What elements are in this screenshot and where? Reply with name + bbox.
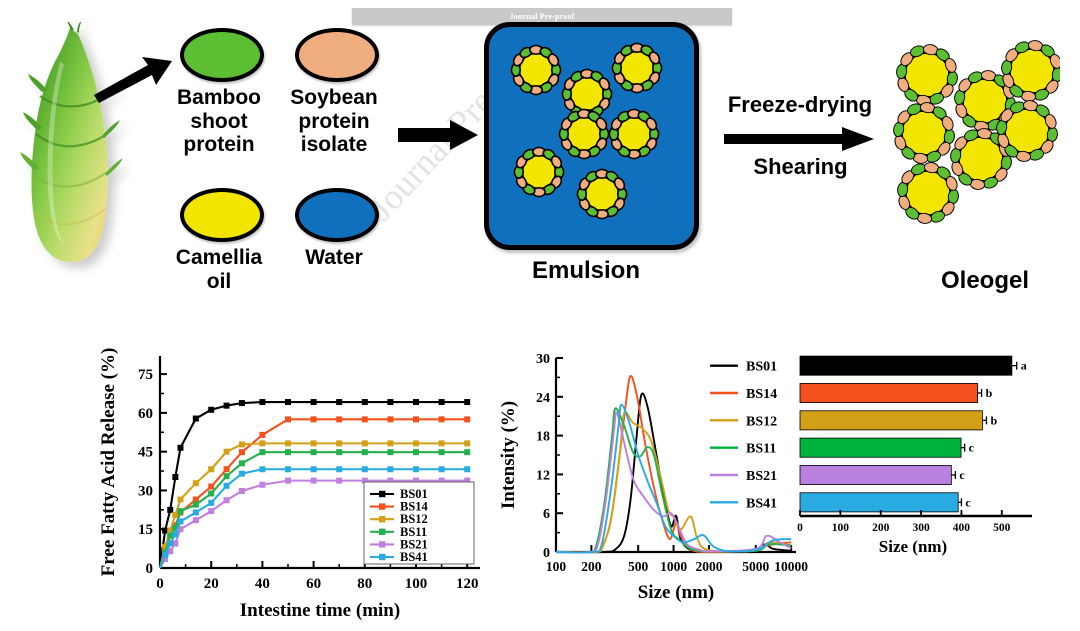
data-point: [259, 482, 265, 488]
data-point: [224, 497, 230, 503]
data-point: [387, 416, 393, 422]
data-point: [336, 478, 342, 484]
x-tick-label: 500: [628, 559, 649, 574]
bar-BS11: [800, 438, 961, 457]
y-tick-label: 12: [536, 468, 550, 483]
data-point: [336, 399, 342, 405]
data-point: [259, 399, 265, 405]
data-point: [224, 473, 230, 479]
x-tick-label: 1000: [660, 559, 687, 574]
water-ellipse: [295, 188, 379, 242]
data-point: [208, 407, 214, 413]
soybean-protein-isolate-label: Soybean protein isolate: [280, 86, 388, 157]
bar-BS12: [800, 411, 982, 430]
bar-BS14: [800, 383, 978, 402]
data-point: [239, 449, 245, 455]
x-tick-label: 20: [204, 576, 219, 592]
x-tick-label: 0: [156, 576, 164, 592]
emulsion-label: Emulsion: [506, 258, 666, 285]
data-point: [177, 518, 183, 524]
bamboo-shoot-protein-ellipse: [180, 28, 264, 82]
data-point: [439, 399, 445, 405]
x-tick-label: 10000: [774, 559, 808, 574]
label-line-2: protein: [280, 110, 388, 134]
legend-label-BS01: BS01: [746, 360, 777, 375]
data-point: [285, 440, 291, 446]
data-point: [177, 508, 183, 514]
legend-marker-BS12: [379, 516, 385, 522]
oleogel-label: Oleogel: [905, 268, 1065, 295]
camellia-oil-ellipse: [180, 188, 264, 242]
ffa-release-chart: 01530456075020406080100120Intestine time…: [92, 320, 492, 626]
data-point: [259, 432, 265, 438]
shearing-label: Shearing: [718, 155, 883, 180]
label-line-2: shoot: [165, 110, 273, 134]
data-point: [464, 466, 470, 472]
mean-size-plot-area: aBS01bBS14bBS12cBS11cBS21cBS410100200300…: [690, 340, 1080, 560]
significance-letter-BS41: c: [965, 495, 971, 509]
data-point: [193, 480, 199, 486]
legend-label-BS41: BS41: [746, 496, 777, 511]
data-point: [311, 478, 317, 484]
data-point: [193, 496, 199, 502]
data-point: [239, 488, 245, 494]
data-point: [224, 483, 230, 489]
label-line-1: Bamboo: [165, 86, 273, 110]
data-point: [208, 491, 214, 497]
data-point: [259, 449, 265, 455]
data-point: [224, 449, 230, 455]
legend-label-BS14: BS14: [746, 387, 777, 402]
data-point: [208, 484, 214, 490]
x-tick-label: 0: [797, 522, 803, 534]
data-point: [239, 400, 245, 406]
data-point: [336, 440, 342, 446]
data-point: [177, 445, 183, 451]
x-tick-label: 300: [912, 522, 930, 534]
data-point: [172, 474, 178, 480]
arrow-ingredients-to-emulsion: [398, 118, 478, 152]
x-tick-label: 2000: [695, 559, 722, 574]
data-point: [167, 540, 173, 546]
arrow-bamboo-to-proteins: [92, 55, 174, 103]
x-axis-title: Intestine time (min): [240, 600, 400, 621]
data-point: [193, 416, 199, 422]
y-tick-label: 6: [543, 507, 550, 522]
data-point: [162, 552, 168, 558]
data-point: [193, 517, 199, 523]
data-point: [311, 440, 317, 446]
data-point: [285, 399, 291, 405]
data-point: [172, 531, 178, 537]
data-point: [259, 466, 265, 472]
significance-letter-BS11: c: [969, 441, 975, 455]
label-line-1: Camellia: [165, 246, 273, 270]
bamboo-shoot-protein-label: Bamboo shoot protein: [165, 86, 273, 157]
data-point: [362, 416, 368, 422]
legend-marker-BS14: [379, 503, 385, 509]
data-point: [413, 449, 419, 455]
significance-letter-BS12: b: [990, 413, 997, 427]
data-point: [362, 466, 368, 472]
data-point: [208, 466, 214, 472]
freeze-drying-label: Freeze-drying: [710, 93, 890, 118]
mean-size-bar-chart: aBS01bBS14bBS12cBS11cBS21cBS410100200300…: [690, 340, 1080, 560]
oleogel-cluster: [880, 28, 1060, 248]
data-point: [439, 440, 445, 446]
x-tick-label: 60: [306, 576, 321, 592]
data-point: [285, 416, 291, 422]
data-point: [193, 509, 199, 515]
legend-label-BS21: BS21: [746, 469, 777, 484]
data-point: [208, 500, 214, 506]
data-point: [177, 496, 183, 502]
soybean-protein-isolate-ellipse: [295, 28, 379, 82]
data-point: [311, 416, 317, 422]
data-point: [285, 478, 291, 484]
data-point: [413, 399, 419, 405]
data-point: [285, 466, 291, 472]
y-tick-label: 75: [138, 367, 153, 383]
y-tick-label: 30: [138, 483, 153, 499]
x-axis-title: Size (nm): [638, 582, 715, 603]
data-point: [413, 416, 419, 422]
data-point: [336, 466, 342, 472]
data-point: [464, 440, 470, 446]
data-point: [464, 416, 470, 422]
legend-marker-BS11: [379, 529, 385, 535]
data-point: [439, 416, 445, 422]
bar-BS21: [800, 465, 951, 484]
data-point: [362, 449, 368, 455]
data-point: [311, 466, 317, 472]
data-point: [362, 440, 368, 446]
label-line-3: isolate: [280, 133, 388, 157]
data-point: [387, 449, 393, 455]
x-tick-label: 100: [546, 559, 567, 574]
data-point: [387, 440, 393, 446]
data-point: [239, 441, 245, 447]
legend-label-BS11: BS11: [746, 442, 776, 457]
significance-letter-BS21: c: [959, 468, 965, 482]
y-tick-label: 18: [536, 430, 550, 445]
x-tick-label: 100: [832, 522, 850, 534]
data-point: [413, 440, 419, 446]
legend-marker-BS41: [379, 554, 385, 560]
water-label: Water: [280, 246, 388, 270]
data-point: [193, 502, 199, 508]
y-tick-label: 24: [536, 391, 550, 406]
x-tick-label: 120: [456, 576, 479, 592]
significance-letter-BS14: b: [986, 386, 993, 400]
data-point: [285, 449, 291, 455]
y-tick-label: 45: [138, 445, 153, 461]
data-point: [172, 512, 178, 518]
x-axis-title: Size (nm): [879, 537, 947, 556]
camellia-oil-label: Camellia oil: [165, 246, 273, 293]
data-point: [464, 399, 470, 405]
data-point: [311, 399, 317, 405]
x-tick-label: 5000: [742, 559, 769, 574]
y-axis-title: Intensity (%): [498, 401, 519, 509]
data-point: [162, 528, 168, 534]
data-point: [413, 466, 419, 472]
x-tick-label: 500: [993, 522, 1011, 534]
label-line-3: protein: [165, 133, 273, 157]
data-point: [387, 399, 393, 405]
legend-label-BS12: BS12: [746, 414, 777, 429]
legend-marker-BS01: [379, 491, 385, 497]
data-point: [208, 508, 214, 514]
label-line-1: Soybean: [280, 86, 388, 110]
emulsion-vessel: [484, 22, 699, 250]
data-point: [336, 416, 342, 422]
x-tick-label: 200: [872, 522, 890, 534]
y-tick-label: 30: [536, 352, 550, 367]
y-tick-label: 15: [138, 522, 153, 538]
data-point: [439, 449, 445, 455]
label-line-2: oil: [165, 270, 273, 294]
data-point: [259, 440, 265, 446]
x-tick-label: 100: [405, 576, 428, 592]
data-point: [239, 460, 245, 466]
x-tick-label: 400: [953, 522, 971, 534]
data-point: [167, 507, 173, 513]
data-point: [224, 466, 230, 472]
legend-label-BS41: BS41: [400, 550, 428, 564]
bar-BS01: [800, 356, 1012, 375]
significance-letter-BS01: a: [1021, 359, 1027, 373]
x-tick-label: 200: [581, 559, 602, 574]
data-point: [311, 449, 317, 455]
legend-marker-BS21: [379, 541, 385, 547]
data-point: [239, 471, 245, 477]
y-tick-label: 0: [146, 561, 154, 577]
data-point: [439, 466, 445, 472]
y-tick-label: 60: [138, 406, 153, 422]
x-tick-label: 80: [357, 576, 372, 592]
data-point: [172, 540, 178, 546]
ffa-release-plot-area: 01530456075020406080100120Intestine time…: [92, 320, 492, 626]
data-point: [224, 403, 230, 409]
y-axis-title: Free Fatty Acid Release (%): [98, 348, 119, 577]
bar-BS41: [800, 493, 958, 512]
data-point: [362, 399, 368, 405]
x-tick-label: 40: [255, 576, 270, 592]
data-point: [387, 466, 393, 472]
data-point: [464, 449, 470, 455]
data-point: [336, 449, 342, 455]
arrow-emulsion-to-oleogel: [724, 126, 874, 152]
